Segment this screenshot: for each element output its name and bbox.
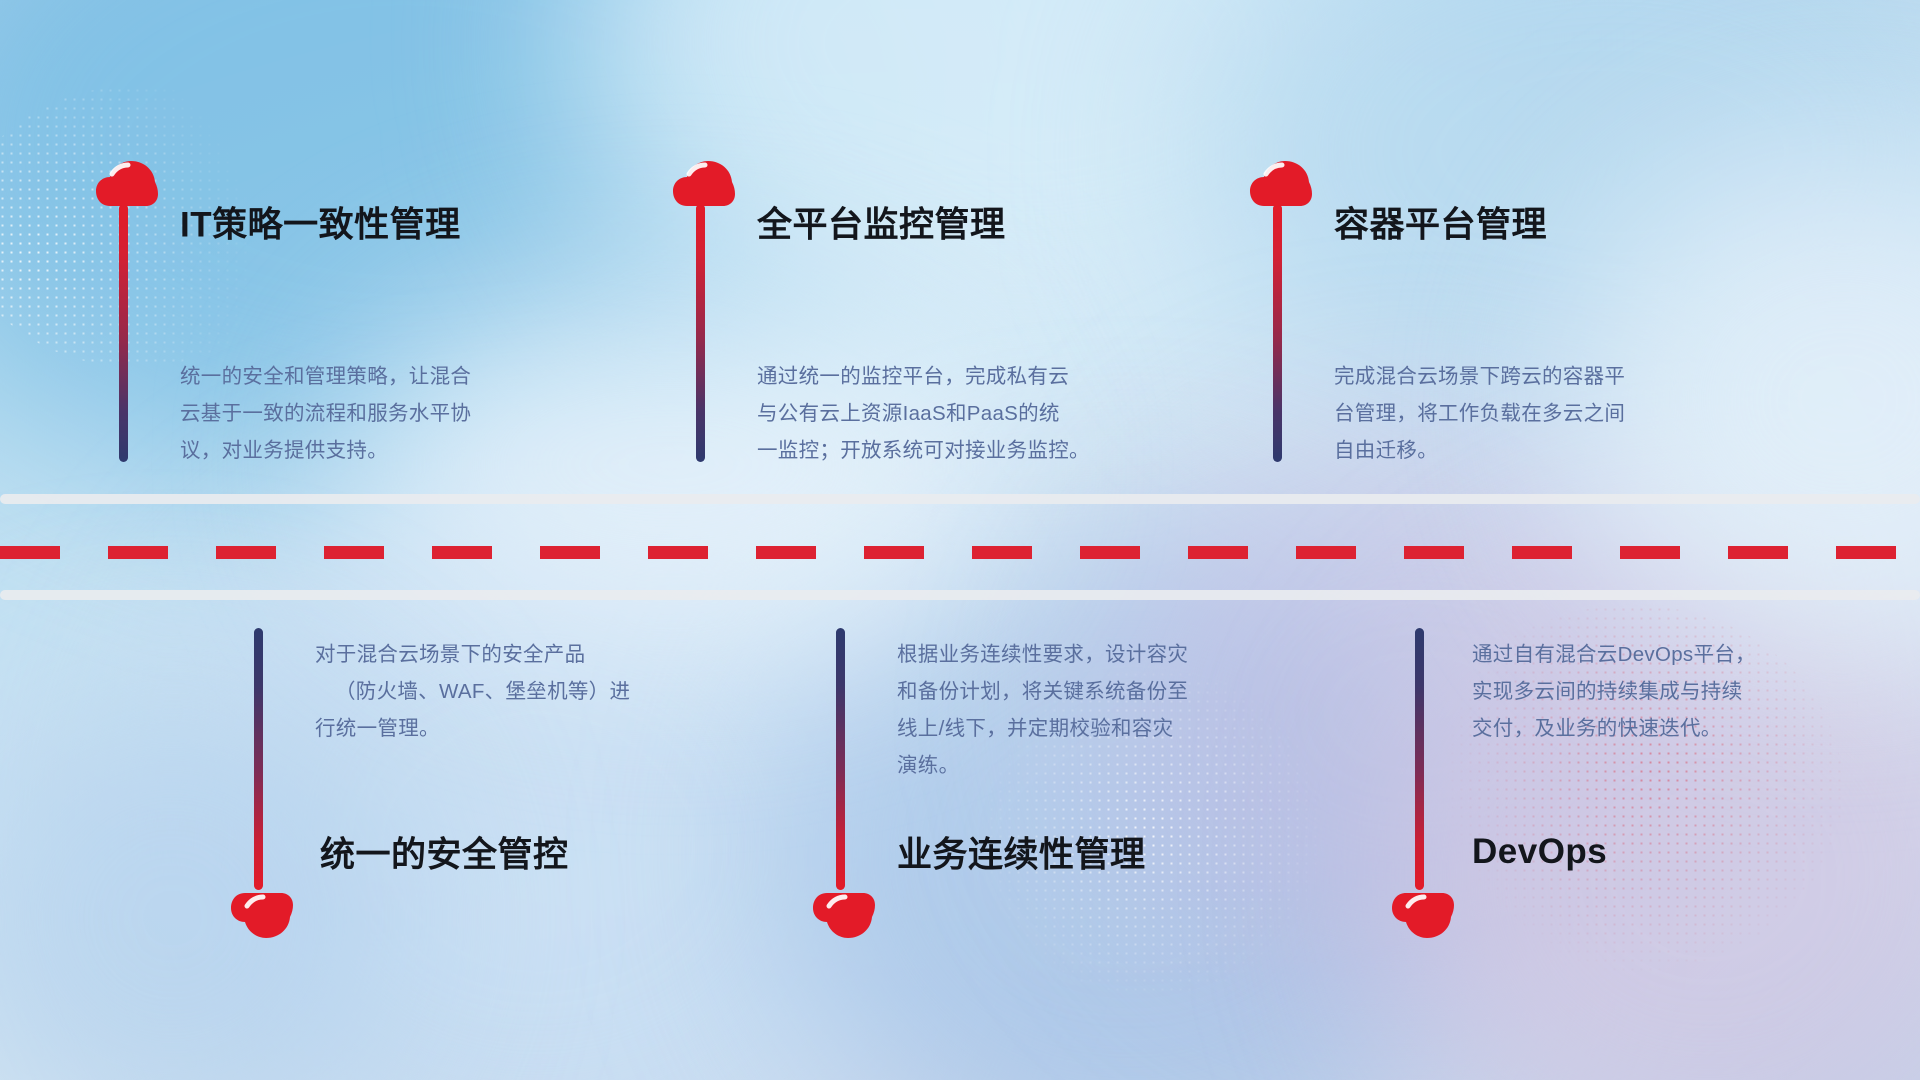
cloud-icon	[96, 160, 158, 207]
cloud-icon	[1392, 892, 1454, 939]
desc-line: 交付，及业务的快速迭代。	[1472, 710, 1756, 747]
road-edge-top	[0, 494, 1920, 504]
bottom-column-1-description: 对于混合云场景下的安全产品 （防火墙、WAF、堡垒机等）进 行统一管理。	[315, 636, 630, 747]
top-column-2-title: 全平台监控管理	[757, 197, 1006, 248]
desc-line: 线上/线下，并定期校验和容灾	[897, 710, 1188, 747]
desc-line: 统一的安全和管理策略，让混合	[180, 358, 471, 395]
top-column-2-description: 通过统一的监控平台，完成私有云 与公有云上资源IaaS和PaaS的统 一监控；开…	[757, 358, 1090, 469]
infographic-canvas: IT策略一致性管理 统一的安全和管理策略，让混合 云基于一致的流程和服务水平协 …	[0, 0, 1920, 1080]
desc-line: 通过统一的监控平台，完成私有云	[757, 358, 1090, 395]
top-column-1-title: IT策略一致性管理	[180, 197, 461, 248]
connector-bar	[696, 204, 705, 462]
connector-bar	[1415, 628, 1424, 890]
desc-line: 演练。	[897, 747, 1188, 784]
desc-line: 自由迁移。	[1334, 432, 1625, 469]
desc-line: 根据业务连续性要求，设计容灾	[897, 636, 1188, 673]
bottom-column-1-title: 统一的安全管控	[320, 827, 569, 878]
desc-line: 一监控；开放系统可对接业务监控。	[757, 432, 1090, 469]
desc-line: 通过自有混合云DevOps平台，	[1472, 636, 1756, 673]
desc-line: 和备份计划，将关键系统备份至	[897, 673, 1188, 710]
top-column-1-description: 统一的安全和管理策略，让混合 云基于一致的流程和服务水平协 议，对业务提供支持。	[180, 358, 471, 469]
top-column-3-description: 完成混合云场景下跨云的容器平 台管理，将工作负载在多云之间 自由迁移。	[1334, 358, 1625, 469]
desc-line: 台管理，将工作负载在多云之间	[1334, 395, 1625, 432]
bottom-column-3-title: DevOps	[1472, 832, 1607, 872]
desc-line: 实现多云间的持续集成与持续	[1472, 673, 1756, 710]
desc-line: 对于混合云场景下的安全产品	[315, 636, 630, 673]
cloud-icon	[231, 892, 293, 939]
cloud-icon	[813, 892, 875, 939]
connector-bar	[119, 204, 128, 462]
bottom-column-2-description: 根据业务连续性要求，设计容灾 和备份计划，将关键系统备份至 线上/线下，并定期校…	[897, 636, 1188, 784]
desc-line: 完成混合云场景下跨云的容器平	[1334, 358, 1625, 395]
connector-bar	[836, 628, 845, 890]
road-dashed-centerline	[0, 546, 1920, 559]
desc-line: 与公有云上资源IaaS和PaaS的统	[757, 395, 1090, 432]
desc-line: （防火墙、WAF、堡垒机等）进	[315, 673, 630, 710]
desc-line: 云基于一致的流程和服务水平协	[180, 395, 471, 432]
desc-line: 议，对业务提供支持。	[180, 432, 471, 469]
bottom-column-3-description: 通过自有混合云DevOps平台， 实现多云间的持续集成与持续 交付，及业务的快速…	[1472, 636, 1756, 747]
road-edge-bottom	[0, 590, 1920, 600]
top-column-3-title: 容器平台管理	[1334, 197, 1547, 248]
connector-bar	[254, 628, 263, 890]
connector-bar	[1273, 204, 1282, 462]
desc-line: 行统一管理。	[315, 710, 630, 747]
cloud-icon	[1250, 160, 1312, 207]
cloud-icon	[673, 160, 735, 207]
bottom-column-2-title: 业务连续性管理	[897, 827, 1146, 878]
